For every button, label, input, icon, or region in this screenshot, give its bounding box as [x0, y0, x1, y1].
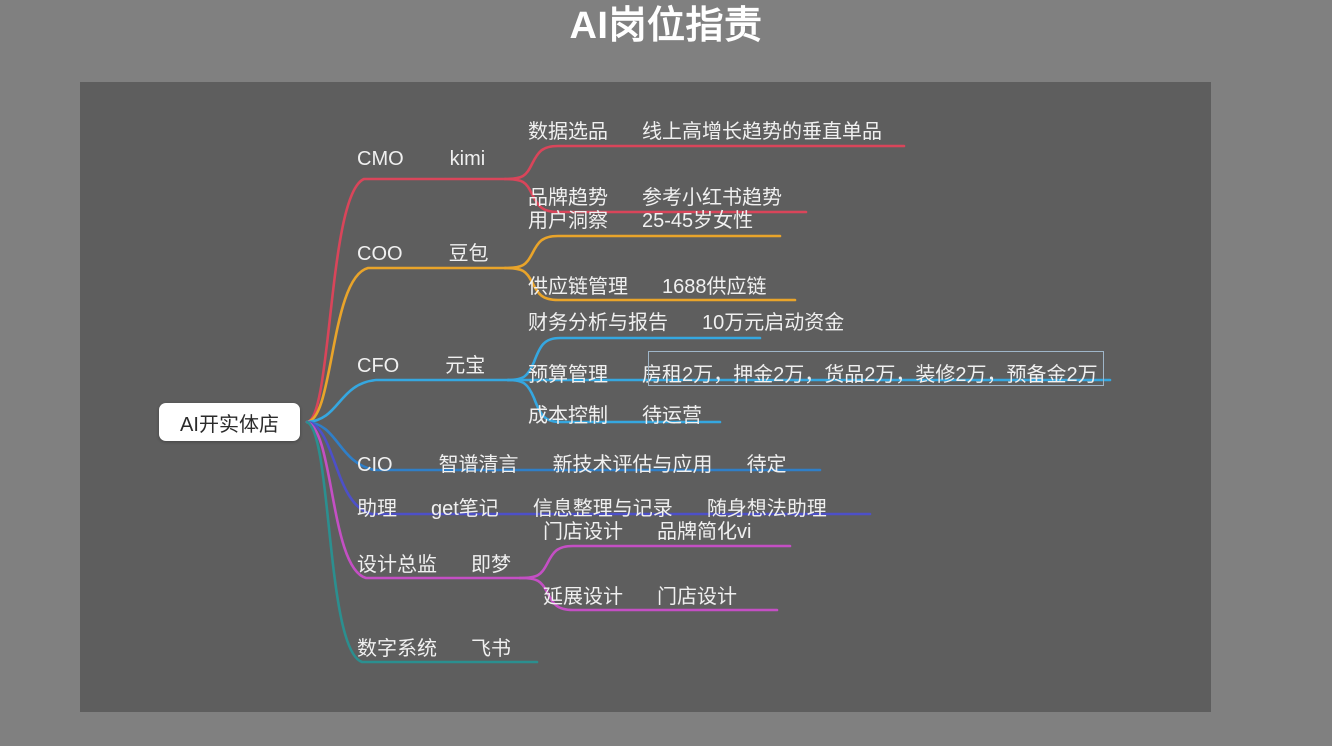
- connector-lines: [80, 82, 1211, 712]
- leaf-topic: 延展设计: [543, 580, 623, 609]
- page-title: AI岗位指责: [0, 6, 1332, 48]
- leaf-topic: 门店设计: [543, 515, 623, 544]
- leaf-topic: 财务分析与报告: [528, 306, 668, 335]
- branch-tool-cmo: kimi: [450, 148, 486, 171]
- branch-role-cio: CIO: [357, 454, 393, 477]
- branch-role-assistant: 助理: [357, 492, 397, 521]
- leaf-topic: 成本控制: [528, 399, 608, 428]
- branch-tool-cio: 智谱清言: [439, 448, 519, 477]
- leaf-node-design-0[interactable]: 门店设计 品牌简化vi: [543, 515, 751, 544]
- leaf-detail: 线上高增长趋势的垂直单品: [642, 115, 882, 144]
- branch-node-digital[interactable]: 数字系统 飞书: [357, 632, 511, 661]
- leaf-detail: 10万元启动资金: [702, 306, 844, 335]
- leaf-detail-cio: 待定: [747, 448, 787, 477]
- connector-cfo-trunk: [307, 380, 508, 422]
- connector-cmo-trunk: [307, 179, 505, 422]
- branch-tool-cfo: 元宝: [445, 349, 485, 378]
- branch-node-cfo[interactable]: CFO 元宝: [357, 349, 485, 378]
- leaf-topic: 供应链管理: [528, 270, 628, 299]
- branch-node-coo[interactable]: COO 豆包: [357, 237, 489, 266]
- leaf-detail: 品牌简化vi: [657, 515, 751, 544]
- leaf-detail: 门店设计: [657, 580, 737, 609]
- root-node[interactable]: AI开实体店: [159, 403, 300, 441]
- selection-outline-budget[interactable]: [648, 351, 1104, 386]
- leaf-node-cfo-0[interactable]: 财务分析与报告 10万元启动资金: [528, 306, 844, 335]
- connector-coo-trunk: [307, 268, 505, 422]
- connector-design-fork-top: [520, 546, 790, 578]
- leaf-topic: 预算管理: [528, 358, 608, 387]
- branch-role-coo: COO: [357, 243, 403, 266]
- branch-tool-digital: 飞书: [471, 632, 511, 661]
- branch-node-cmo[interactable]: CMO kimi: [357, 148, 485, 171]
- branch-role-digital: 数字系统: [357, 632, 437, 661]
- leaf-node-coo-0[interactable]: 用户洞察 25-45岁女性: [528, 204, 753, 233]
- branch-role-design: 设计总监: [357, 548, 437, 577]
- branch-tool-assistant: get笔记: [431, 492, 499, 521]
- leaf-topic: 数据选品: [528, 115, 608, 144]
- leaf-node-design-1[interactable]: 延展设计 门店设计: [543, 580, 737, 609]
- leaf-node-cmo-0[interactable]: 数据选品 线上高增长趋势的垂直单品: [528, 115, 882, 144]
- leaf-detail: 1688供应链: [662, 270, 767, 299]
- root-node-label: AI开实体店: [180, 408, 279, 437]
- mindmap-canvas[interactable]: AI开实体店 CMO kimi 数据选品 线上高增长趋势的垂直单品 品牌趋势 参…: [80, 82, 1211, 712]
- branch-role-cmo: CMO: [357, 148, 404, 171]
- leaf-detail: 待运营: [642, 399, 702, 428]
- leaf-node-cfo-2[interactable]: 成本控制 待运营: [528, 399, 702, 428]
- connector-coo-fork-top: [505, 236, 780, 268]
- branch-node-cio[interactable]: CIO 智谱清言 新技术评估与应用 待定: [357, 448, 787, 477]
- leaf-topic: 用户洞察: [528, 204, 608, 233]
- branch-tool-design: 即梦: [471, 548, 511, 577]
- connector-cmo-fork-top: [505, 146, 904, 179]
- branch-role-cfo: CFO: [357, 355, 399, 378]
- branch-tool-coo: 豆包: [449, 237, 489, 266]
- leaf-topic-cio: 新技术评估与应用: [553, 448, 713, 477]
- leaf-detail: 25-45岁女性: [642, 204, 753, 233]
- branch-node-design[interactable]: 设计总监 即梦: [357, 548, 511, 577]
- leaf-node-coo-1[interactable]: 供应链管理 1688供应链: [528, 270, 767, 299]
